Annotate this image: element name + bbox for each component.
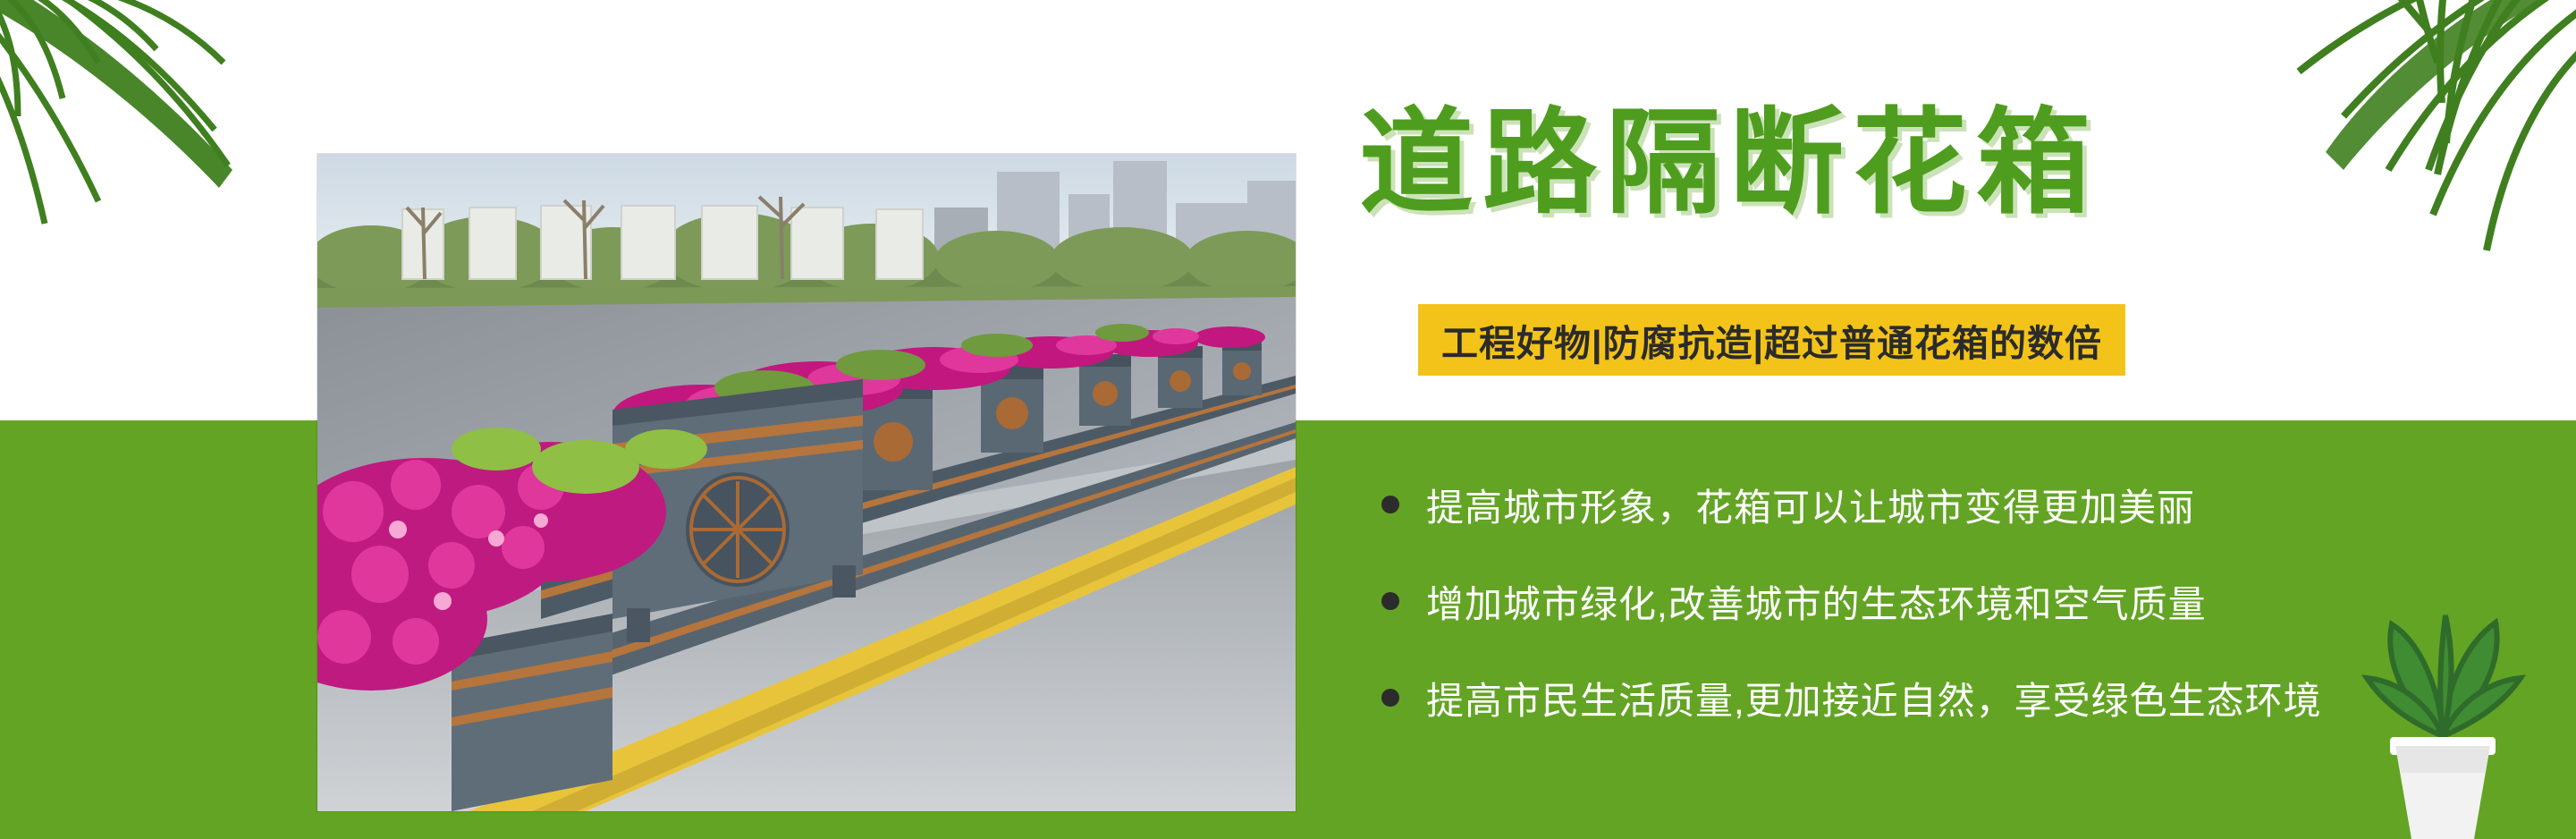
list-item-label: 提高市民生活质量,更加接近自然，享受绿色生态环境: [1426, 671, 2322, 725]
list-item-label: 增加城市绿化,改善城市的生态环境和空气质量: [1426, 574, 2207, 629]
bullet-dot-icon: [1381, 496, 1399, 513]
subtitle-badge: 工程好物|防腐抗造|超过普通花箱的数倍: [1418, 304, 2125, 376]
promo-banner: 绿化城市、改善空气、缓解交通压力 道路隔断花箱 工程好物|防腐抗造|超过普通花箱…: [0, 0, 2576, 839]
potted-plant-icon: [2349, 571, 2537, 839]
list-item: 提高城市形象，花箱可以让城市变得更加美丽: [1381, 456, 2553, 553]
subtitle-text: 工程好物|防腐抗造|超过普通花箱的数倍: [1441, 313, 2102, 367]
page-title: 道路隔断花箱: [1359, 70, 2099, 235]
photo-illustration: [317, 154, 1296, 811]
palm-frond-icon: [2120, 0, 2576, 304]
bullet-dot-icon: [1381, 689, 1399, 707]
palm-frond-icon: [0, 0, 340, 268]
list-item-label: 提高城市形象，花箱可以让城市变得更加美丽: [1426, 478, 2195, 532]
bullet-dot-icon: [1381, 592, 1399, 610]
product-photo: 绿化城市、改善空气、缓解交通压力: [317, 154, 1296, 811]
